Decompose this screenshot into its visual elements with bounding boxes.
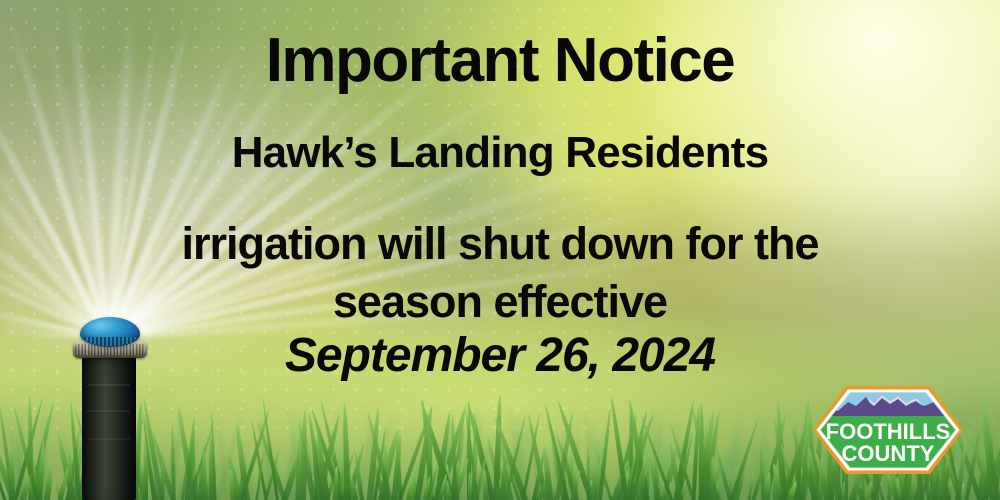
foothills-county-logo: FOOTHILLS COUNTY — [810, 382, 966, 478]
notice-body-line-1: irrigation will shut down for the — [0, 221, 1000, 266]
page-title: Important Notice — [0, 30, 1000, 92]
notice-effective-date: September 26, 2024 — [0, 332, 1000, 380]
logo-text-line-2: COUNTY — [842, 441, 935, 466]
page-subtitle: Hawk’s Landing Residents — [0, 131, 1000, 175]
notice-poster: Important Notice Hawk’s Landing Resident… — [0, 0, 1000, 500]
notice-body-line-2: season effective — [0, 279, 1000, 324]
